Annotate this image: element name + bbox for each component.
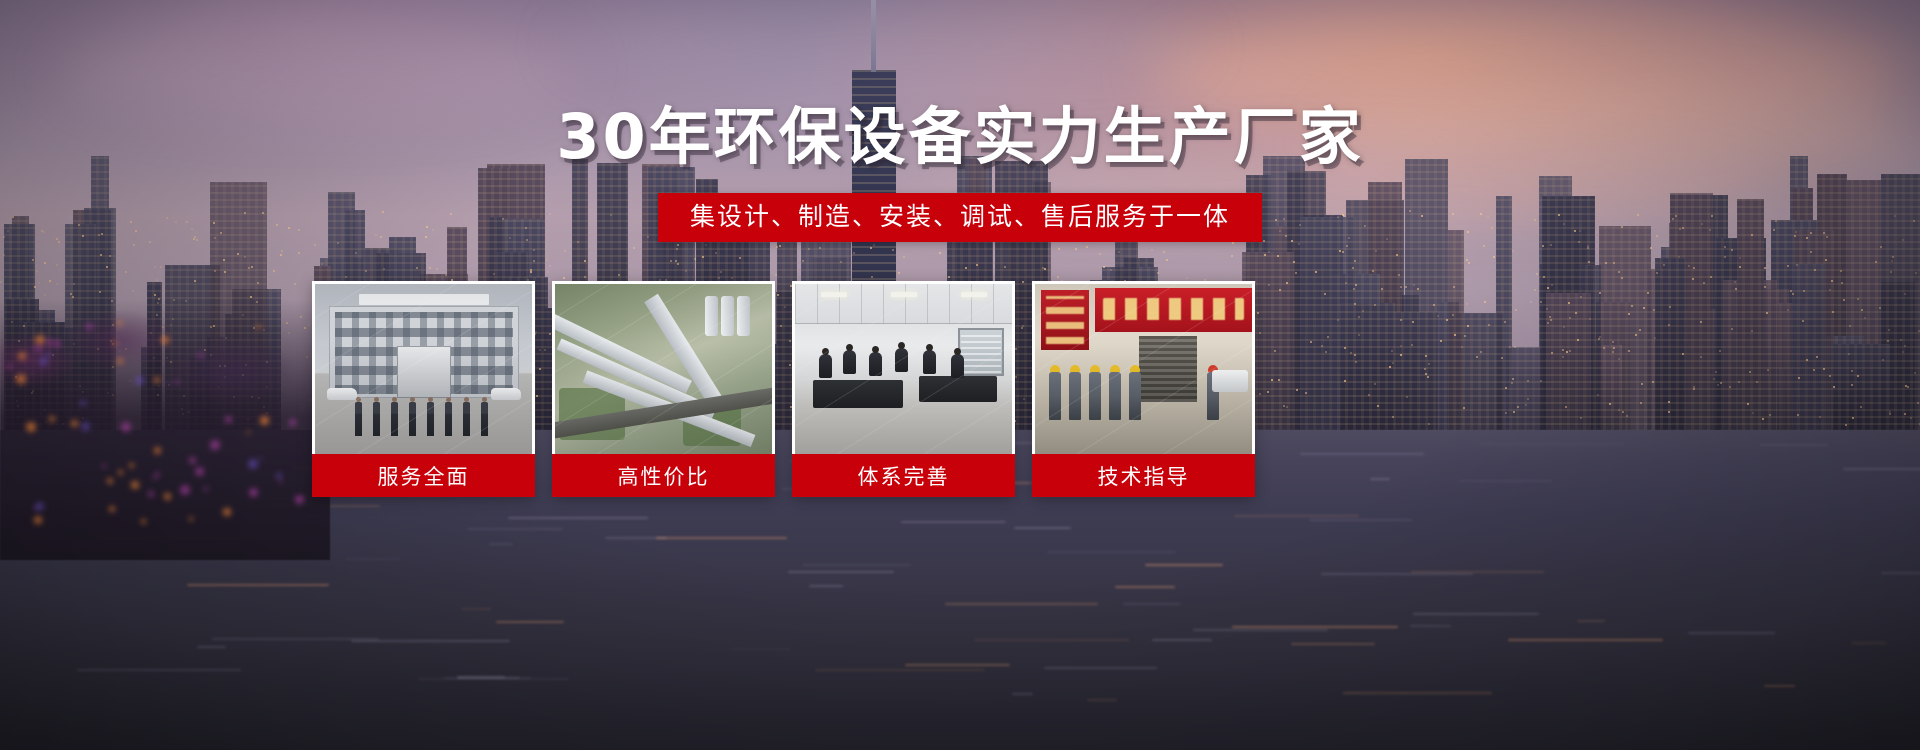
feature-card-label: 体系完善 [792, 454, 1015, 497]
factory-worker [1089, 372, 1101, 420]
staff-person [445, 402, 452, 436]
seated-person [819, 354, 832, 378]
banner-headline: 30年环保设备实力生产厂家 [0, 104, 1920, 169]
meeting-desk [813, 380, 903, 408]
banner-content: 30年环保设备实力生产厂家 集设计、制造、安装、调试、售后服务于一体 [0, 0, 1920, 750]
parked-car [327, 388, 357, 400]
staff-person [481, 402, 488, 436]
seated-person [895, 348, 908, 372]
ceiling-light [961, 292, 987, 297]
office-interior-meeting-photo [795, 284, 1012, 454]
factory-worker [1049, 372, 1061, 420]
building-signboard [359, 294, 489, 305]
office-window [958, 328, 1004, 376]
storage-silo [737, 296, 750, 336]
factory-worker [1129, 372, 1141, 420]
factory-shutter-door [1139, 336, 1197, 402]
aerial-industrial-plant-photo [555, 284, 772, 454]
ceiling-light [891, 292, 917, 297]
feature-card-label: 高性价比 [552, 454, 775, 497]
feature-card[interactable]: 服务全面 [312, 281, 535, 497]
banner-subtitle: 集设计、制造、安装、调试、售后服务于一体 [658, 193, 1262, 242]
staff-person [391, 402, 398, 436]
storage-silo [705, 296, 718, 336]
feature-card[interactable]: 体系完善 [792, 281, 1015, 497]
seated-person [951, 354, 964, 378]
building-entrance [397, 346, 451, 398]
office-building-staff-photo [315, 284, 532, 454]
factory-vehicle [1212, 370, 1248, 392]
hero-banner: 30年环保设备实力生产厂家 集设计、制造、安装、调试、售后服务于一体 [0, 0, 1920, 750]
seated-person [923, 350, 936, 374]
factory-workshop-workers-photo [1035, 284, 1252, 454]
staff-person [427, 402, 434, 436]
storage-silo [721, 296, 734, 336]
factory-worker [1069, 372, 1081, 420]
office-ceiling [795, 284, 1012, 324]
meeting-desk [919, 376, 997, 402]
feature-card-label: 技术指导 [1032, 454, 1255, 497]
seated-person [843, 350, 856, 374]
staff-person [463, 402, 470, 436]
staff-person [373, 402, 380, 436]
feature-card[interactable]: 技术指导 [1032, 281, 1255, 497]
staff-person [409, 402, 416, 436]
feature-card-list: 服务全面 高性价比 [312, 281, 1255, 497]
banner-subtitle-row: 集设计、制造、安装、调试、售后服务于一体 [0, 193, 1920, 242]
parked-car [491, 388, 521, 400]
feature-card[interactable]: 高性价比 [552, 281, 775, 497]
factory-worker [1109, 372, 1121, 420]
seated-person [869, 352, 882, 376]
factory-red-banner [1095, 288, 1252, 332]
ceiling-light [821, 292, 847, 297]
feature-card-label: 服务全面 [312, 454, 535, 497]
factory-side-banner [1041, 290, 1089, 350]
staff-person [355, 402, 362, 436]
